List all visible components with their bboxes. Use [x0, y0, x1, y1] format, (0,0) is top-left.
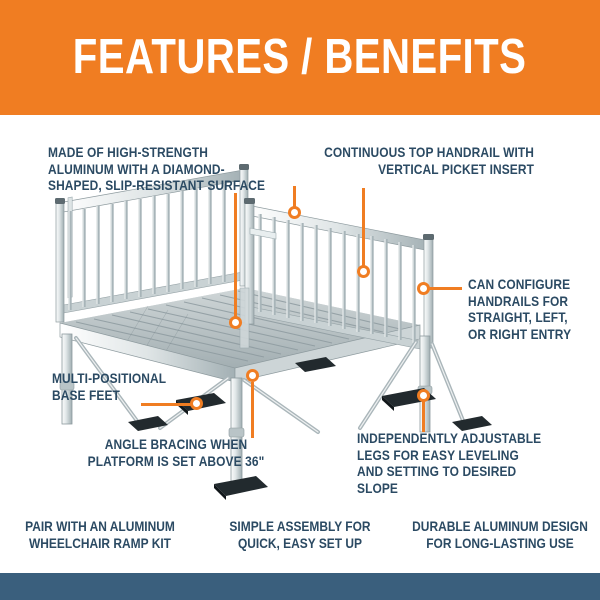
header-banner: FEATURES / BENEFITS — [0, 0, 600, 115]
infographic-root: FEATURES / BENEFITS — [0, 0, 600, 600]
callout-base-feet: MULTI-POSITIONAL BASE FEET — [52, 371, 184, 404]
bottom-bar — [0, 573, 600, 600]
connector-dot-material — [229, 316, 242, 329]
connector-dot-legs — [417, 389, 430, 402]
callout-angle-bracing: ANGLE BRACING WHEN PLATFORM IS SET ABOVE… — [72, 437, 280, 470]
footer-text-ramp-kit: PAIR WITH AN ALUMINUM WHEELCHAIR RAMP KI… — [12, 519, 188, 552]
connector-line-material — [234, 193, 237, 319]
connector-line-handrail — [362, 188, 365, 268]
footer-text-assembly: SIMPLE ASSEMBLY FOR QUICK, EASY SET UP — [212, 519, 388, 552]
connector-dot-angle — [246, 369, 259, 382]
footer-benefits: PAIR WITH AN ALUMINUM WHEELCHAIR RAMP KI… — [0, 516, 600, 573]
callout-material: MADE OF HIGH-STRENGTH ALUMINUM WITH A DI… — [48, 145, 268, 195]
page-title: FEATURES / BENEFITS — [73, 33, 527, 82]
callout-adjustable-legs: INDEPENDENTLY ADJUSTABLE LEGS FOR EASY L… — [357, 431, 546, 497]
footer-column-assembly: SIMPLE ASSEMBLY FOR QUICK, EASY SET UP — [200, 516, 400, 573]
connector-line-angle — [251, 382, 254, 438]
connector-dot-basefeet — [190, 397, 203, 410]
footer-column-durable: DURABLE ALUMINUM DESIGN FOR LONG-LASTING… — [400, 516, 600, 573]
connector-dot-handrail — [357, 265, 370, 278]
connector-dot-handrail-secondary — [288, 206, 301, 219]
connector-line-legs — [422, 400, 425, 432]
connector-dot-configure — [417, 282, 430, 295]
callout-handrail: CONTINUOUS TOP HANDRAIL WITH VERTICAL PI… — [312, 145, 534, 178]
connector-line-configure — [428, 287, 462, 290]
footer-text-durable: DURABLE ALUMINUM DESIGN FOR LONG-LASTING… — [412, 519, 588, 552]
callout-configure: CAN CONFIGURE HANDRAILS FOR STRAIGHT, LE… — [468, 277, 584, 343]
footer-column-ramp-kit: PAIR WITH AN ALUMINUM WHEELCHAIR RAMP KI… — [0, 516, 200, 573]
